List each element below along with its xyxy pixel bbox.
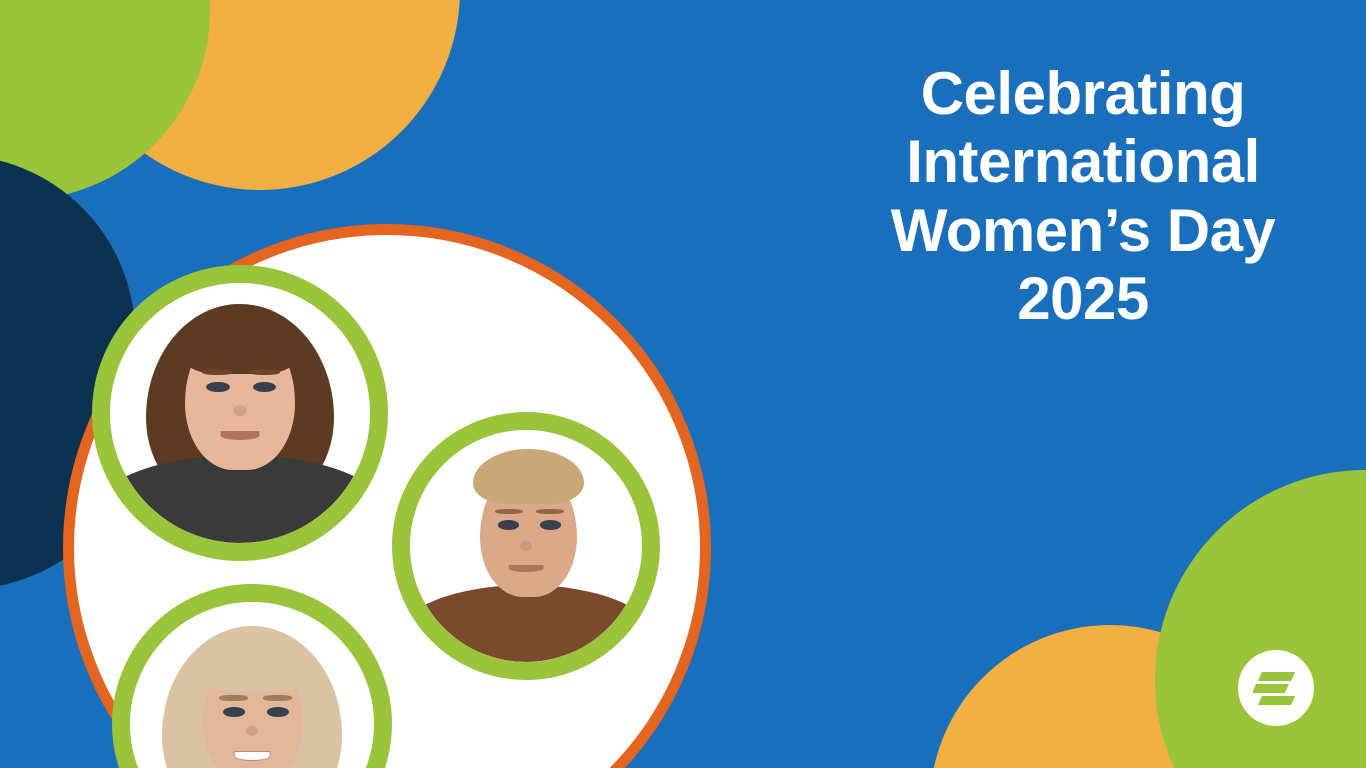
eye-right xyxy=(267,707,289,717)
portrait-photo-2 xyxy=(410,430,642,662)
title-line-4: 2025 xyxy=(800,265,1366,333)
logo-icon xyxy=(1238,650,1314,726)
eye-left xyxy=(206,382,229,392)
portrait-bubble-2 xyxy=(392,412,660,680)
nose xyxy=(520,541,532,550)
eye-left xyxy=(223,707,245,717)
decor-bottom-right-green-circle xyxy=(1155,470,1366,768)
portrait-photo-3 xyxy=(130,602,374,768)
brow-right xyxy=(249,369,280,375)
hair-front xyxy=(473,449,584,505)
brow-right xyxy=(263,695,292,701)
eye-right xyxy=(540,520,561,529)
brow-left xyxy=(202,369,233,375)
slide-canvas: Celebrating International Women’s Day 20… xyxy=(0,0,1366,768)
mouth xyxy=(221,431,260,440)
brow-left xyxy=(219,695,248,701)
nose xyxy=(246,726,258,736)
title-line-2: International xyxy=(800,128,1366,196)
title-line-3: Women’s Day xyxy=(800,197,1366,265)
portrait-photo-1 xyxy=(110,283,370,543)
portrait-bubble-1 xyxy=(92,265,388,561)
page-title: Celebrating International Women’s Day 20… xyxy=(800,60,1366,334)
title-line-1: Celebrating xyxy=(800,60,1366,128)
mouth xyxy=(509,565,544,573)
eye-left xyxy=(498,520,519,529)
